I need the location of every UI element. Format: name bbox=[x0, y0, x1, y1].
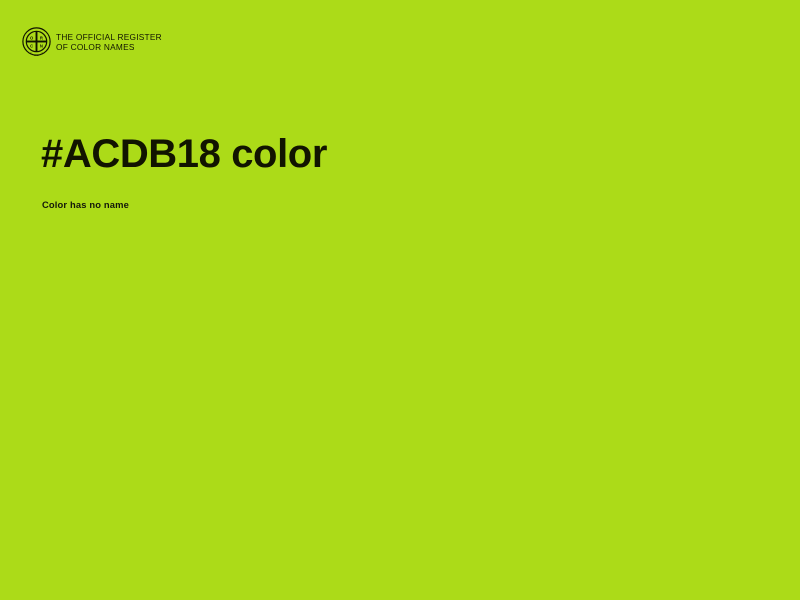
svg-text:N: N bbox=[40, 44, 43, 49]
brand-title: THE OFFICIAL REGISTER OF COLOR NAMES bbox=[56, 32, 162, 52]
color-name-status: Color has no name bbox=[42, 198, 129, 211]
svg-text:R: R bbox=[40, 35, 43, 40]
color-page: O R C N THE OFFICIAL REGISTER OF COLOR N… bbox=[0, 0, 800, 600]
brand-title-line-2: OF COLOR NAMES bbox=[56, 42, 162, 52]
official-register-seal-icon: O R C N bbox=[22, 27, 51, 56]
brand-title-line-1: THE OFFICIAL REGISTER bbox=[56, 32, 162, 42]
brand-header[interactable]: O R C N THE OFFICIAL REGISTER OF COLOR N… bbox=[22, 27, 162, 56]
svg-text:O: O bbox=[30, 35, 34, 40]
page-title: #ACDB18 color bbox=[41, 131, 327, 177]
svg-text:C: C bbox=[30, 44, 33, 49]
